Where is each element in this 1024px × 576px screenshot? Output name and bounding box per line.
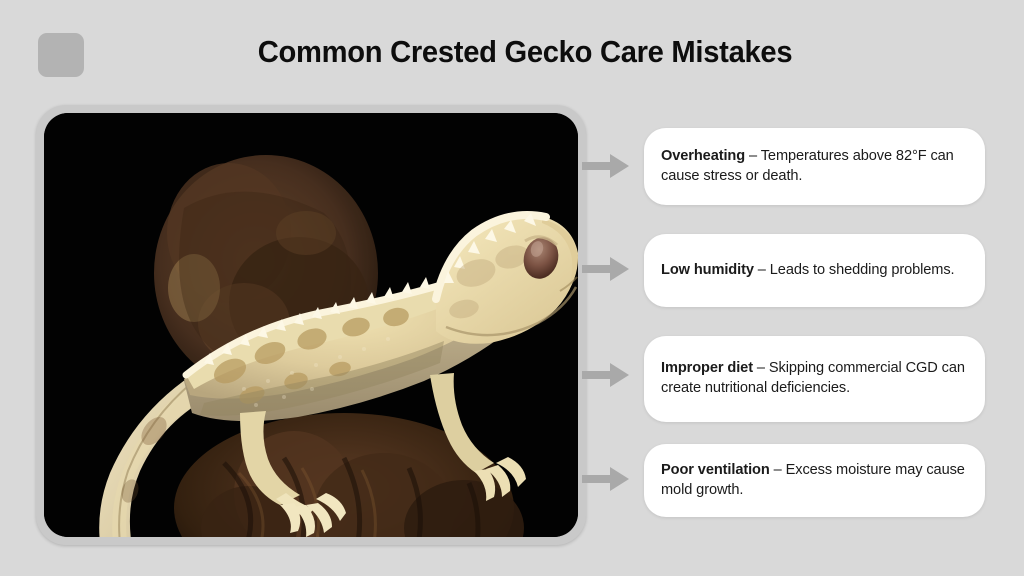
arrow-to-card-1 [582,153,630,179]
gecko-illustration [44,113,578,537]
placeholder-square [38,33,84,77]
card-improper-diet-separator: – [753,360,769,376]
card-low-humidity-description: Leads to shedding problems. [770,262,955,278]
card-low-humidity-term: Low humidity [661,262,754,278]
card-low-humidity-text: Low humidity – Leads to shedding problem… [644,261,973,281]
arrow-to-card-3 [582,362,630,388]
photo-frame [36,105,586,545]
card-poor-ventilation-separator: – [770,462,786,478]
arrow-to-card-4 [582,466,630,492]
card-low-humidity-separator: – [754,262,770,278]
card-poor-ventilation-text: Poor ventilation – Excess moisture may c… [644,461,985,501]
arrow-to-card-2 [582,256,630,282]
card-poor-ventilation-term: Poor ventilation [661,462,770,478]
page-title: Common Crested Gecko Care Mistakes [135,34,915,70]
card-improper-diet[interactable]: Improper diet – Skipping commercial CGD … [644,336,985,422]
card-overheating-term: Overheating [661,148,745,164]
card-low-humidity[interactable]: Low humidity – Leads to shedding problem… [644,234,985,307]
card-overheating-separator: – [745,148,761,164]
card-improper-diet-term: Improper diet [661,360,753,376]
card-overheating[interactable]: Overheating – Temperatures above 82°F ca… [644,128,985,205]
card-poor-ventilation[interactable]: Poor ventilation – Excess moisture may c… [644,444,985,517]
card-improper-diet-text: Improper diet – Skipping commercial CGD … [644,359,985,399]
card-overheating-text: Overheating – Temperatures above 82°F ca… [644,147,985,187]
gecko-photo [44,113,578,537]
